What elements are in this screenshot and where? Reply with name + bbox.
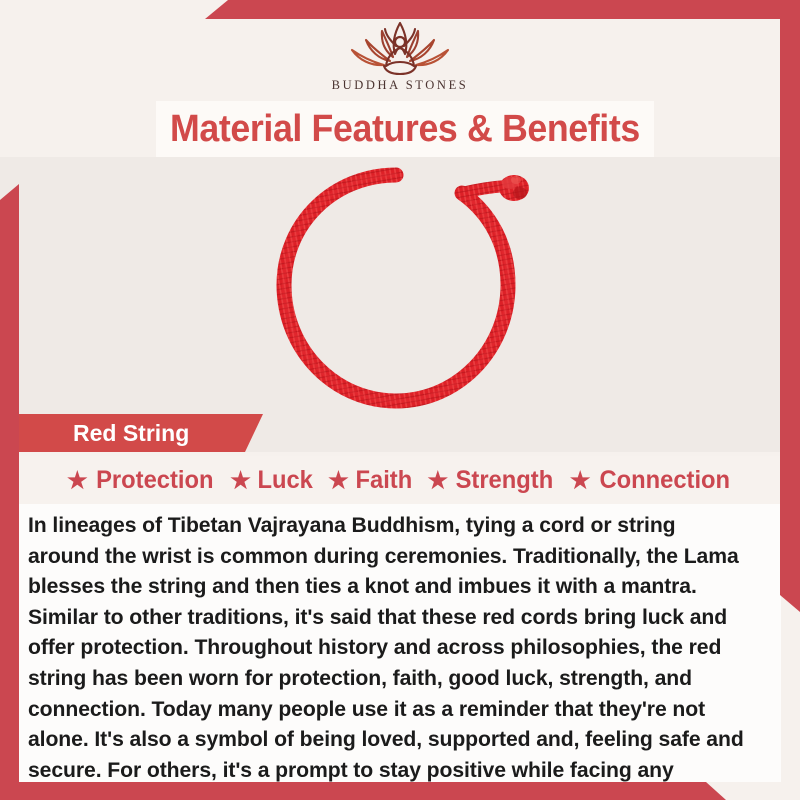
- lotus-meditation-icon: [340, 18, 460, 76]
- benefit-label: Connection: [599, 466, 730, 495]
- benefit-item-protection: ★ Protection: [60, 466, 223, 495]
- benefit-item-strength: ★ Strength: [421, 466, 563, 495]
- product-name-ribbon: Red String: [19, 414, 263, 452]
- decorative-top-bar: [0, 0, 800, 19]
- description-panel: In lineages of Tibetan Vajrayana Buddhis…: [19, 504, 781, 782]
- decorative-right-strip: [780, 0, 800, 612]
- brand-logo: BUDDHA STONES: [0, 18, 800, 98]
- benefit-label: Protection: [96, 466, 213, 495]
- benefit-item-connection: ★ Connection: [563, 466, 740, 495]
- decorative-bottom-bar: [0, 782, 800, 800]
- infographic-page: BUDDHA STONES: [0, 0, 800, 800]
- benefit-item-faith: ★ Faith: [321, 466, 420, 495]
- decorative-left-strip: [0, 184, 19, 782]
- benefits-list: ★ Protection ★ Luck ★ Faith ★ Strength ★…: [19, 456, 781, 504]
- brand-wordmark: BUDDHA STONES: [332, 78, 469, 93]
- star-icon: ★: [328, 469, 349, 492]
- benefit-label: Luck: [257, 466, 312, 495]
- star-icon: ★: [428, 469, 449, 492]
- benefit-label: Faith: [355, 466, 412, 495]
- page-title-band: Material Features & Benefits: [156, 101, 654, 157]
- benefit-label: Strength: [456, 466, 554, 495]
- description-body: In lineages of Tibetan Vajrayana Buddhis…: [28, 510, 750, 800]
- star-icon: ★: [570, 469, 591, 492]
- page-title: Material Features & Benefits: [170, 108, 640, 151]
- star-icon: ★: [230, 469, 251, 492]
- product-photo: [0, 157, 800, 425]
- benefit-item-luck: ★ Luck: [223, 466, 321, 495]
- star-icon: ★: [67, 469, 88, 492]
- product-name-label: Red String: [19, 420, 189, 447]
